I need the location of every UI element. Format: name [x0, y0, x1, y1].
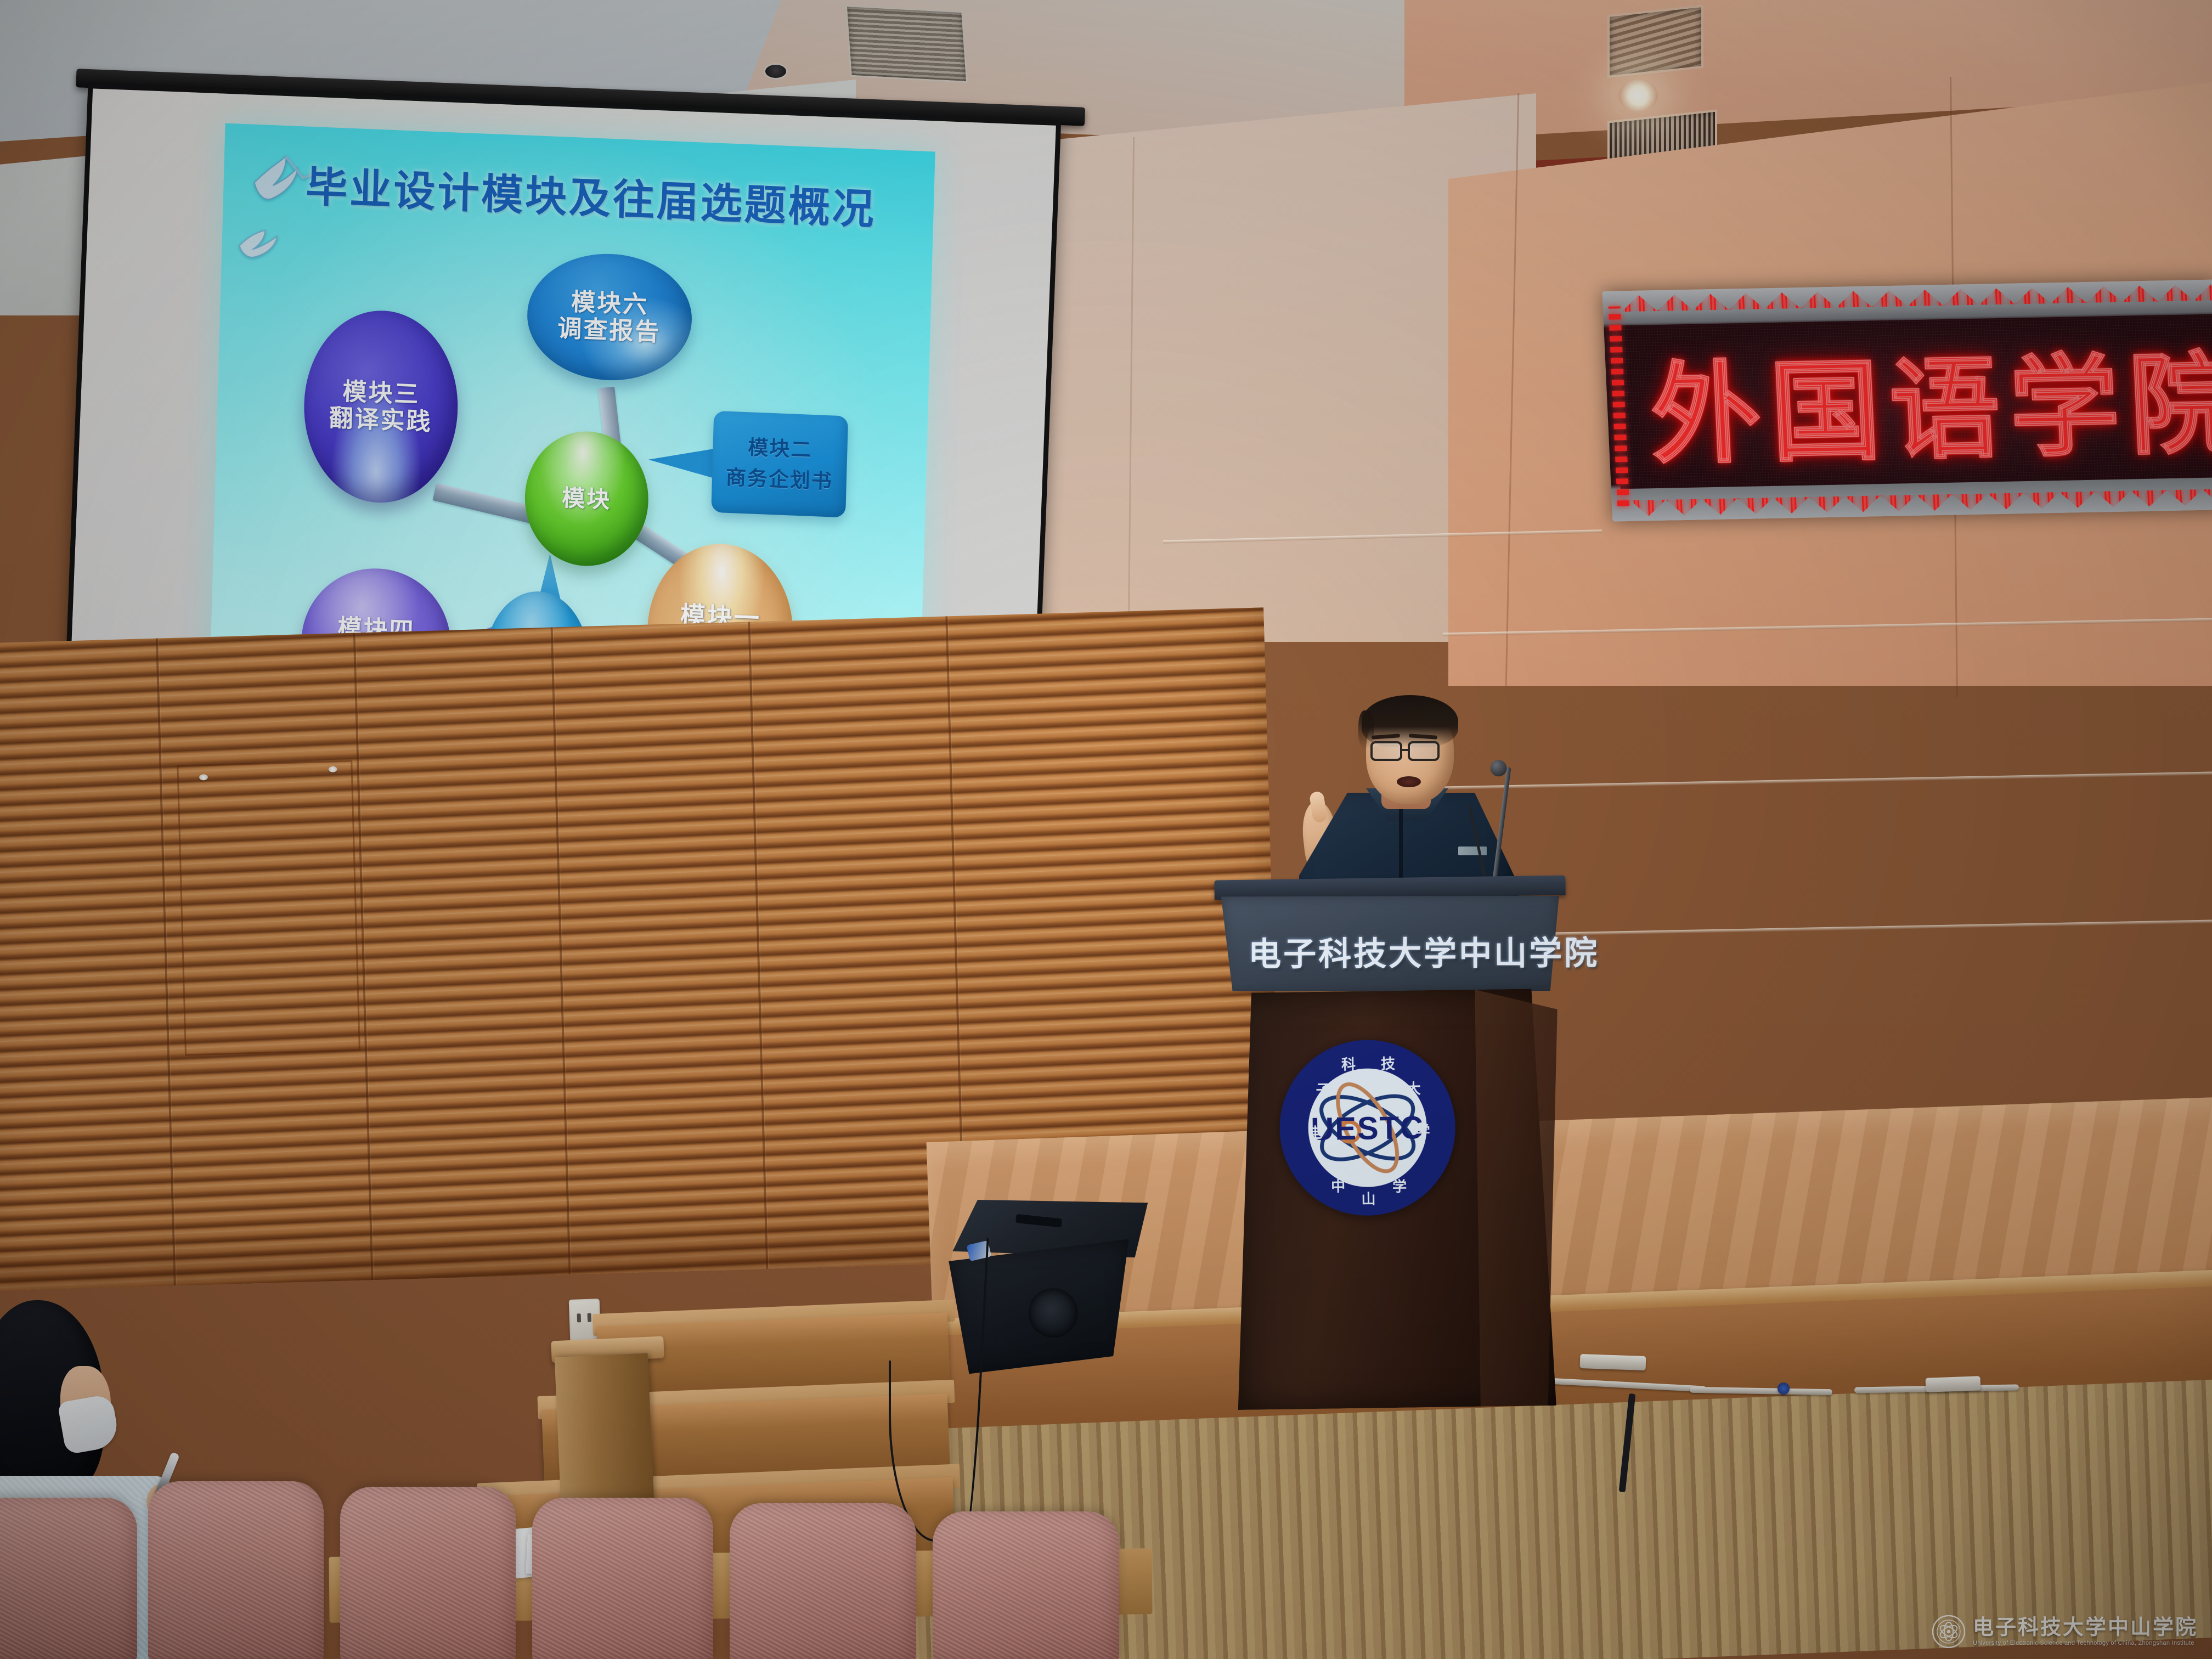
node-label-line1: 模块六	[571, 289, 649, 319]
slide-node-module-3: 模块三 翻译实践	[302, 308, 461, 506]
wall-panel-seam	[551, 627, 571, 1274]
eyeglasses-icon	[1408, 741, 1440, 761]
presenter-shirt-placket	[1399, 806, 1403, 878]
wall-access-panel	[177, 760, 360, 1056]
connector-to-module-3	[433, 483, 538, 524]
auditorium-seat[interactable]	[340, 1487, 516, 1659]
connector-to-module-2	[648, 445, 717, 479]
watermark-seal-icon	[1932, 1615, 1965, 1648]
podium-name-plate: 电子科技大学中山学院	[1248, 927, 1533, 975]
cable-connector	[1580, 1354, 1646, 1370]
svg-text:大: 大	[1406, 1081, 1420, 1097]
auditorium-seat[interactable]	[532, 1498, 713, 1659]
face-mask-icon	[57, 1393, 120, 1455]
watermark-text-block: 电子科技大学中山学院 University of Electronic Scie…	[1973, 1617, 2198, 1646]
svg-text:UESTC: UESTC	[1311, 1110, 1424, 1147]
svg-text:科: 科	[1341, 1057, 1356, 1073]
slide-title: 毕业设计模块及往届选题概况	[305, 153, 877, 236]
presenter-shirt-logo	[1458, 847, 1487, 855]
watermark-en: University of Electronic Science and Tec…	[1973, 1640, 2198, 1647]
slide-node-module-6: 模块六 调查报告	[526, 251, 693, 383]
svg-text:中: 中	[1331, 1178, 1345, 1195]
node-label-line2: 商务企划书	[725, 462, 833, 496]
auditorium-seat[interactable]	[730, 1503, 916, 1659]
air-vent-icon	[845, 5, 968, 83]
eyeglasses-icon	[1370, 741, 1402, 761]
auditorium-seat[interactable]	[933, 1511, 1119, 1659]
node-label-line1: 模块三	[342, 378, 420, 408]
presenter-mouth	[1397, 776, 1421, 787]
svg-text:学: 学	[1392, 1178, 1407, 1195]
eyeglasses-bridge	[1401, 749, 1410, 751]
svg-text:子: 子	[1316, 1082, 1330, 1099]
slide-node-module-2: 模块二 商务企划书	[711, 411, 848, 518]
lectern-podium: 电子科技大学中山学院 UESTC 科 技 子 大	[1214, 876, 1572, 1407]
ceiling-spotlight-icon	[1618, 80, 1658, 111]
wall-panel-seam	[156, 639, 176, 1286]
cable-connector	[1778, 1383, 1790, 1395]
svg-text:电: 电	[1308, 1125, 1323, 1142]
auditorium-seat[interactable]	[0, 1498, 137, 1659]
photo-watermark: 电子科技大学中山学院 University of Electronic Scie…	[1932, 1615, 2198, 1648]
slide-node-center: 模块	[523, 429, 650, 568]
wall-panel-seam	[748, 622, 768, 1269]
svg-text:学: 学	[1416, 1123, 1430, 1140]
front-seat-row	[0, 1481, 1339, 1659]
presenter-hair	[1362, 695, 1458, 748]
auditorium-scene: 外国语学院 毕业设计模块及往届选题概况	[0, 0, 2212, 1659]
air-vent-icon	[1607, 5, 1703, 78]
led-banner: 外国语学院	[1602, 279, 2212, 521]
svg-text:山: 山	[1361, 1191, 1375, 1207]
node-label-line1: 模块	[562, 485, 612, 513]
uestc-logo-icon: UESTC 科 技 子 大 电 学 中 山 学	[1276, 1036, 1459, 1220]
node-label-line2: 调查报告	[557, 315, 661, 346]
node-label-line2: 翻译实践	[329, 405, 432, 436]
node-label-line1: 模块二	[748, 432, 812, 465]
svg-text:技: 技	[1381, 1056, 1395, 1073]
recessed-downlight-icon	[764, 63, 788, 80]
led-banner-text: 外国语学院	[1647, 314, 2212, 485]
seagull-icon	[237, 227, 291, 264]
auditorium-seat[interactable]	[148, 1481, 324, 1659]
watermark-cn: 电子科技大学中山学院	[1973, 1617, 2198, 1639]
cable-connector	[1926, 1376, 1981, 1392]
